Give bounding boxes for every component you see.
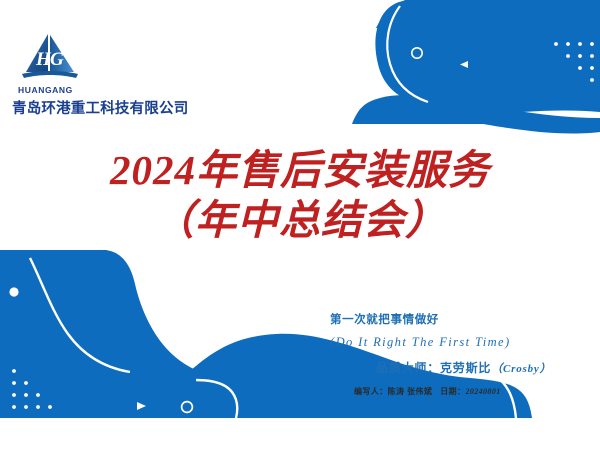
circle-filled-bottom-left — [9, 287, 18, 296]
author-date-line: 编写人：陈涛 张伟斌日期：20240801 — [354, 386, 590, 397]
top-right-blob-main — [375, 0, 600, 113]
slogan-english: (Do It Right The First Time) — [330, 335, 590, 350]
quality-master-label: 品质大师：克劳斯比 — [376, 361, 491, 375]
title-line-primary: 2024年售后安装服务 — [0, 148, 600, 192]
logo-caption-icon: HUANGANG — [16, 84, 90, 96]
slogan-block: 第一次就把事情做好 (Do It Right The First Time) 品… — [330, 311, 590, 397]
triangle-right-bottom — [137, 402, 146, 410]
logo-mark-icon: H G — [18, 32, 82, 84]
company-name: 青岛环港重工科技有限公司 — [12, 97, 182, 118]
quality-master-line: 品质大师：克劳斯比（Crosby） — [376, 359, 590, 376]
bottom-left-blob — [0, 252, 224, 415]
dot-grid-top-right — [554, 42, 594, 82]
triangle-left-top — [460, 61, 468, 68]
quality-master-latin: （Crosby） — [491, 363, 551, 375]
slogan-chinese: 第一次就把事情做好 — [330, 311, 590, 327]
top-right-lower-curve — [430, 104, 600, 134]
presentation-slide: H G HUANGANG 青岛环港重工科技有限公司 2024年售后安装服务 （年… — [0, 0, 600, 450]
circle-outline-bottom — [182, 402, 193, 413]
title-line-secondary: （年中总结会） — [0, 198, 600, 242]
author-label: 编写人： — [354, 387, 388, 396]
bottom-right-white-curve — [196, 380, 237, 418]
top-right-blob — [352, 0, 600, 124]
date-label: 日期： — [440, 387, 465, 396]
author-names: 陈涛 张伟斌 — [388, 387, 433, 396]
date-value: 20240801 — [465, 387, 500, 396]
logo-caption-text: HUANGANG — [18, 85, 73, 95]
top-right-white-arc — [387, 6, 428, 102]
company-logo: H G HUANGANG 青岛环港重工科技有限公司 — [12, 32, 182, 118]
svg-text:G: G — [50, 49, 64, 70]
slide-title: 2024年售后安装服务 （年中总结会） — [0, 148, 600, 243]
dot-grid-bottom-left — [12, 369, 52, 409]
bottom-left-white-curve — [30, 258, 130, 372]
circle-outline-top — [412, 48, 422, 58]
bottom-left-blob-main — [0, 250, 226, 418]
